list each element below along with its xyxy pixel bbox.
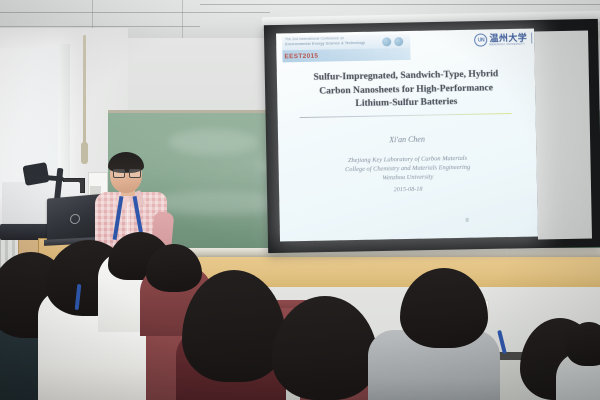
slide-affiliation: Zhejiang Key Laboratory of Carbon Materi… [292, 153, 522, 184]
banner-emblem-icon-2 [394, 37, 403, 46]
screen-right-margin [534, 31, 592, 240]
university-emblem-icon: UN [474, 33, 487, 46]
logo-divider [531, 33, 533, 44]
hanging-cord-tip [81, 142, 88, 164]
conference-code: EEST2015 [284, 53, 318, 61]
university-name-english: WENZHOU UNIVERSITY [489, 43, 525, 47]
hanging-cord [83, 35, 86, 147]
classroom-presentation-photo: The 2nd International Conference on Envi… [0, 0, 600, 400]
slide-title: Sulfur-Impregnated, Sandwich-Type, Hybri… [291, 67, 522, 112]
slide-date: 2015-08-18 [293, 184, 523, 195]
presentation-slide: The 2nd International Conference on Envi… [276, 29, 538, 242]
slide-divider-rule [300, 113, 512, 118]
slide-author: Xi'an Chen [292, 133, 522, 146]
slide-page-mark [466, 218, 469, 222]
presenter-glasses-icon [113, 169, 139, 176]
